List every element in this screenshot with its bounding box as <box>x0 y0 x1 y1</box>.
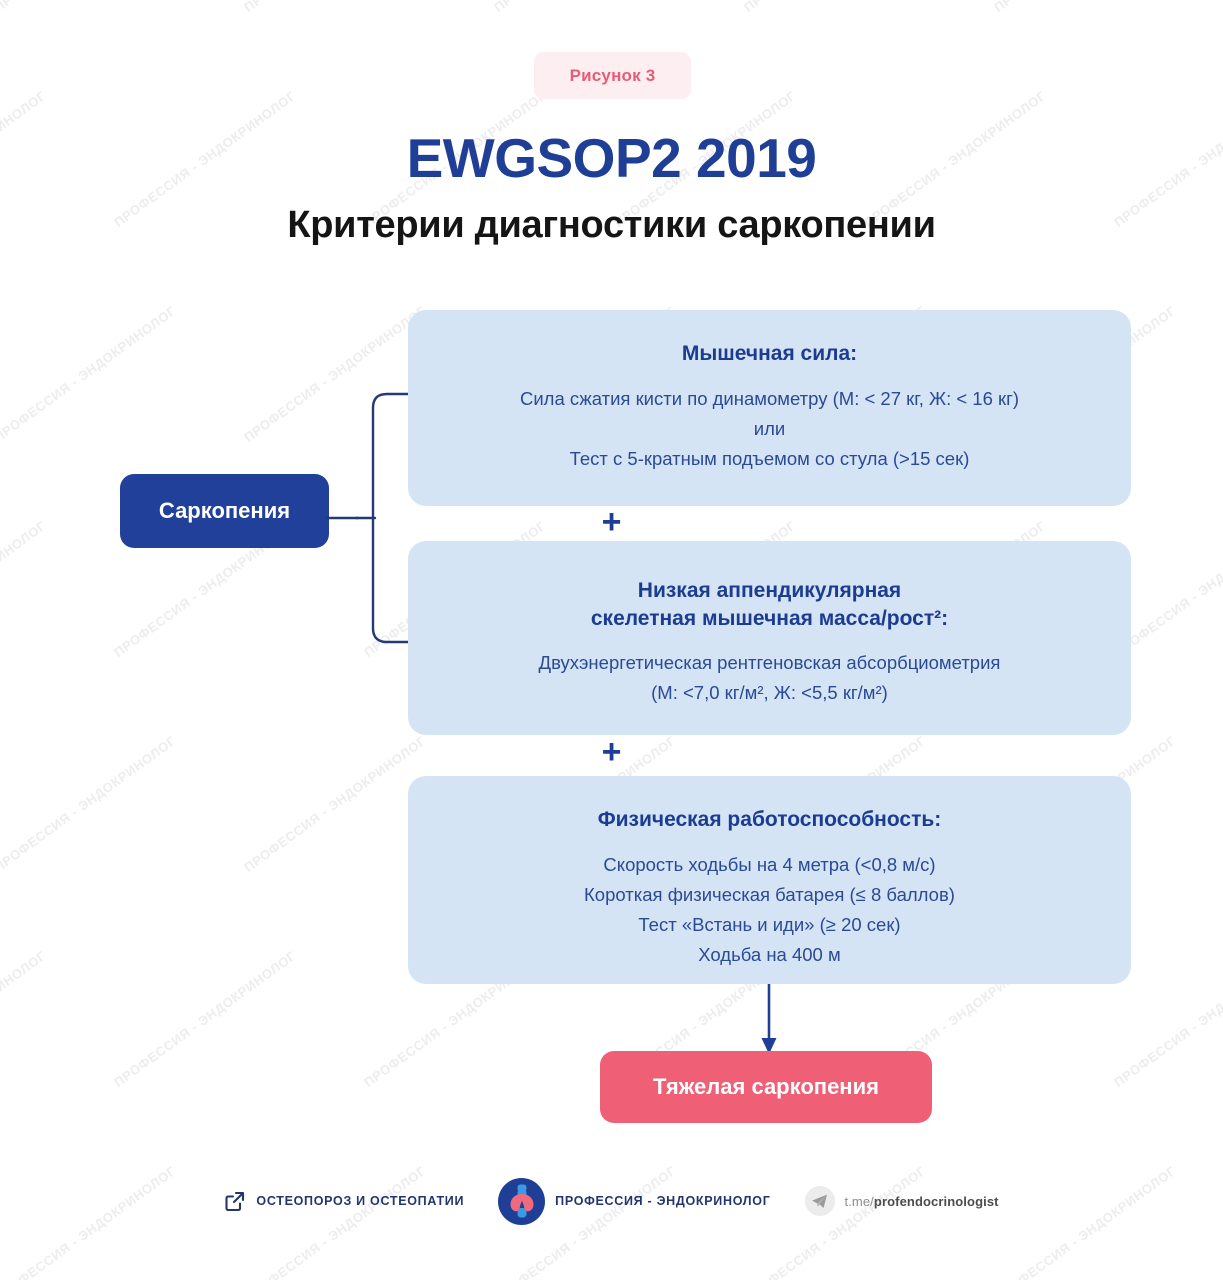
criteria-line: Тест «Встань и иди» (≥ 20 сек) <box>438 910 1101 940</box>
criteria-line: Двухэнергетическая рентгеновская абсорбц… <box>438 648 1101 678</box>
criteria-box-muscle-strength: Мышечная сила: Сила сжатия кисти по дина… <box>408 310 1131 506</box>
footer: ОСТЕОПОРОЗ И ОСТЕОПАТИИ ПРОФЕССИЯ - ЭНДО… <box>0 1166 1223 1236</box>
criteria-title-line-1: Низкая аппендикулярная <box>438 577 1101 605</box>
criteria-line: или <box>438 414 1101 444</box>
infographic-page: ПРОФЕССИЯ - ЭНДОКРИНОЛОГПРОФЕССИЯ - ЭНДО… <box>0 0 1223 1280</box>
arrow-down-icon <box>744 984 794 1056</box>
telegram-icon <box>805 1186 835 1216</box>
node-severe-sarcopenia-label: Тяжелая саркопения <box>653 1074 879 1100</box>
criteria-line: Короткая физическая батарея (≤ 8 баллов) <box>438 880 1101 910</box>
external-link-icon <box>224 1190 246 1212</box>
figure-badge: Рисунок 3 <box>534 52 691 99</box>
footer-telegram-label: t.me/profendocrinologist <box>845 1194 999 1209</box>
criteria-body: Сила сжатия кисти по динамометру (М: < 2… <box>438 384 1101 474</box>
criteria-line: Скорость ходьбы на 4 метра (<0,8 м/с) <box>438 850 1101 880</box>
plus-operator-1: + <box>0 505 1223 539</box>
infographic-content: Рисунок 3 EWGSOP2 2019 Критерии диагност… <box>0 0 1223 1280</box>
criteria-title: Мышечная сила: <box>438 340 1101 368</box>
thyroid-logo-icon <box>498 1178 545 1225</box>
criteria-title-line-2: скелетная мышечная масса/рост²: <box>438 605 1101 633</box>
telegram-handle: profendocrinologist <box>874 1194 999 1209</box>
figure-badge-label: Рисунок 3 <box>570 66 656 86</box>
footer-journal-label: ОСТЕОПОРОЗ И ОСТЕОПАТИИ <box>256 1194 464 1208</box>
criteria-box-physical-performance: Физическая работоспособность: Скорость х… <box>408 776 1131 984</box>
footer-brand[interactable]: ПРОФЕССИЯ - ЭНДОКРИНОЛОГ <box>498 1178 770 1225</box>
criteria-title: Физическая работоспособность: <box>438 806 1101 834</box>
criteria-body: Двухэнергетическая рентгеновская абсорбц… <box>438 648 1101 708</box>
criteria-line: Сила сжатия кисти по динамометру (М: < 2… <box>438 384 1101 414</box>
footer-journal[interactable]: ОСТЕОПОРОЗ И ОСТЕОПАТИИ <box>224 1190 464 1212</box>
criteria-line: Тест с 5-кратным подъемом со стула (>15 … <box>438 444 1101 474</box>
plus-operator-2: + <box>0 735 1223 769</box>
footer-brand-label: ПРОФЕССИЯ - ЭНДОКРИНОЛОГ <box>555 1194 770 1208</box>
criteria-line: (М: <7,0 кг/м², Ж: <5,5 кг/м²) <box>438 678 1101 708</box>
page-subtitle: Критерии диагностики саркопении <box>0 204 1223 247</box>
criteria-line: Ходьба на 400 м <box>438 940 1101 970</box>
node-severe-sarcopenia: Тяжелая саркопения <box>600 1051 932 1123</box>
criteria-box-muscle-mass: Низкая аппендикулярная скелетная мышечна… <box>408 541 1131 735</box>
footer-telegram[interactable]: t.me/profendocrinologist <box>805 1186 999 1216</box>
telegram-prefix: t.me/ <box>845 1194 874 1209</box>
page-title: EWGSOP2 2019 <box>0 126 1223 190</box>
criteria-body: Скорость ходьбы на 4 метра (<0,8 м/с) Ко… <box>438 850 1101 970</box>
